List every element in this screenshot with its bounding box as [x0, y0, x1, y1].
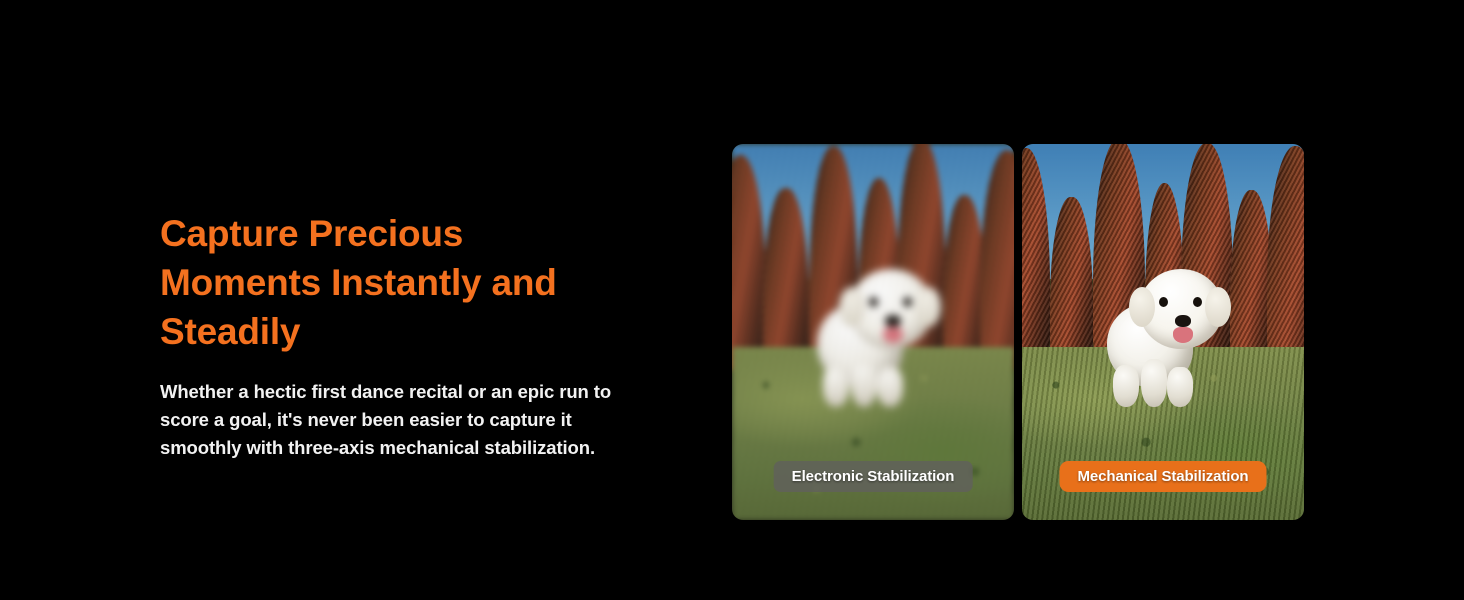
dog-leg [877, 367, 903, 407]
dog-ear [1129, 287, 1155, 327]
dog-leg [851, 359, 877, 407]
dog-ear [915, 287, 941, 327]
dog-tongue [883, 327, 903, 343]
dog-nose [885, 315, 901, 327]
tree [980, 150, 1014, 369]
tree [897, 144, 946, 370]
dog-eye [869, 297, 878, 307]
tree [1267, 146, 1304, 370]
tree [943, 195, 986, 370]
dog-tongue [1173, 327, 1193, 343]
dog-subject [811, 257, 935, 407]
dog-leg [1141, 359, 1167, 407]
dog-subject [1101, 257, 1225, 407]
dog-ear [1205, 287, 1231, 327]
panel-label-electronic: Electronic Stabilization [774, 461, 973, 492]
dog-body [817, 303, 903, 387]
tree [858, 178, 901, 369]
dog-eye [903, 297, 912, 307]
hills-layer [732, 279, 1014, 369]
comparison-panel-mechanical: Mechanical Stabilization [1022, 144, 1304, 520]
feature-text-block: Capture Precious Moments Instantly and S… [160, 209, 660, 462]
dog-ear [839, 287, 865, 327]
dog-head [849, 269, 933, 349]
feature-description: Whether a hectic first dance recital or … [160, 378, 660, 462]
tree [1022, 148, 1050, 369]
dog-leg [1113, 365, 1139, 407]
tree [732, 155, 766, 369]
panel-label-mechanical: Mechanical Stabilization [1060, 461, 1267, 492]
tree [1050, 197, 1093, 370]
comparison-panel-electronic: Electronic Stabilization [732, 144, 1014, 520]
treeline-layer [732, 144, 1014, 370]
dog-nose [1175, 315, 1191, 327]
tree [809, 146, 858, 370]
page-title: Capture Precious Moments Instantly and S… [160, 209, 660, 356]
dog-leg [1167, 367, 1193, 407]
grass-layer [732, 347, 1014, 520]
dog-eye [1159, 297, 1168, 307]
stabilization-comparison: Electronic Stabilization [732, 144, 1304, 520]
tree [763, 188, 809, 370]
dog-eye [1193, 297, 1202, 307]
sky-layer [732, 144, 1014, 355]
dog-leg [823, 365, 849, 407]
